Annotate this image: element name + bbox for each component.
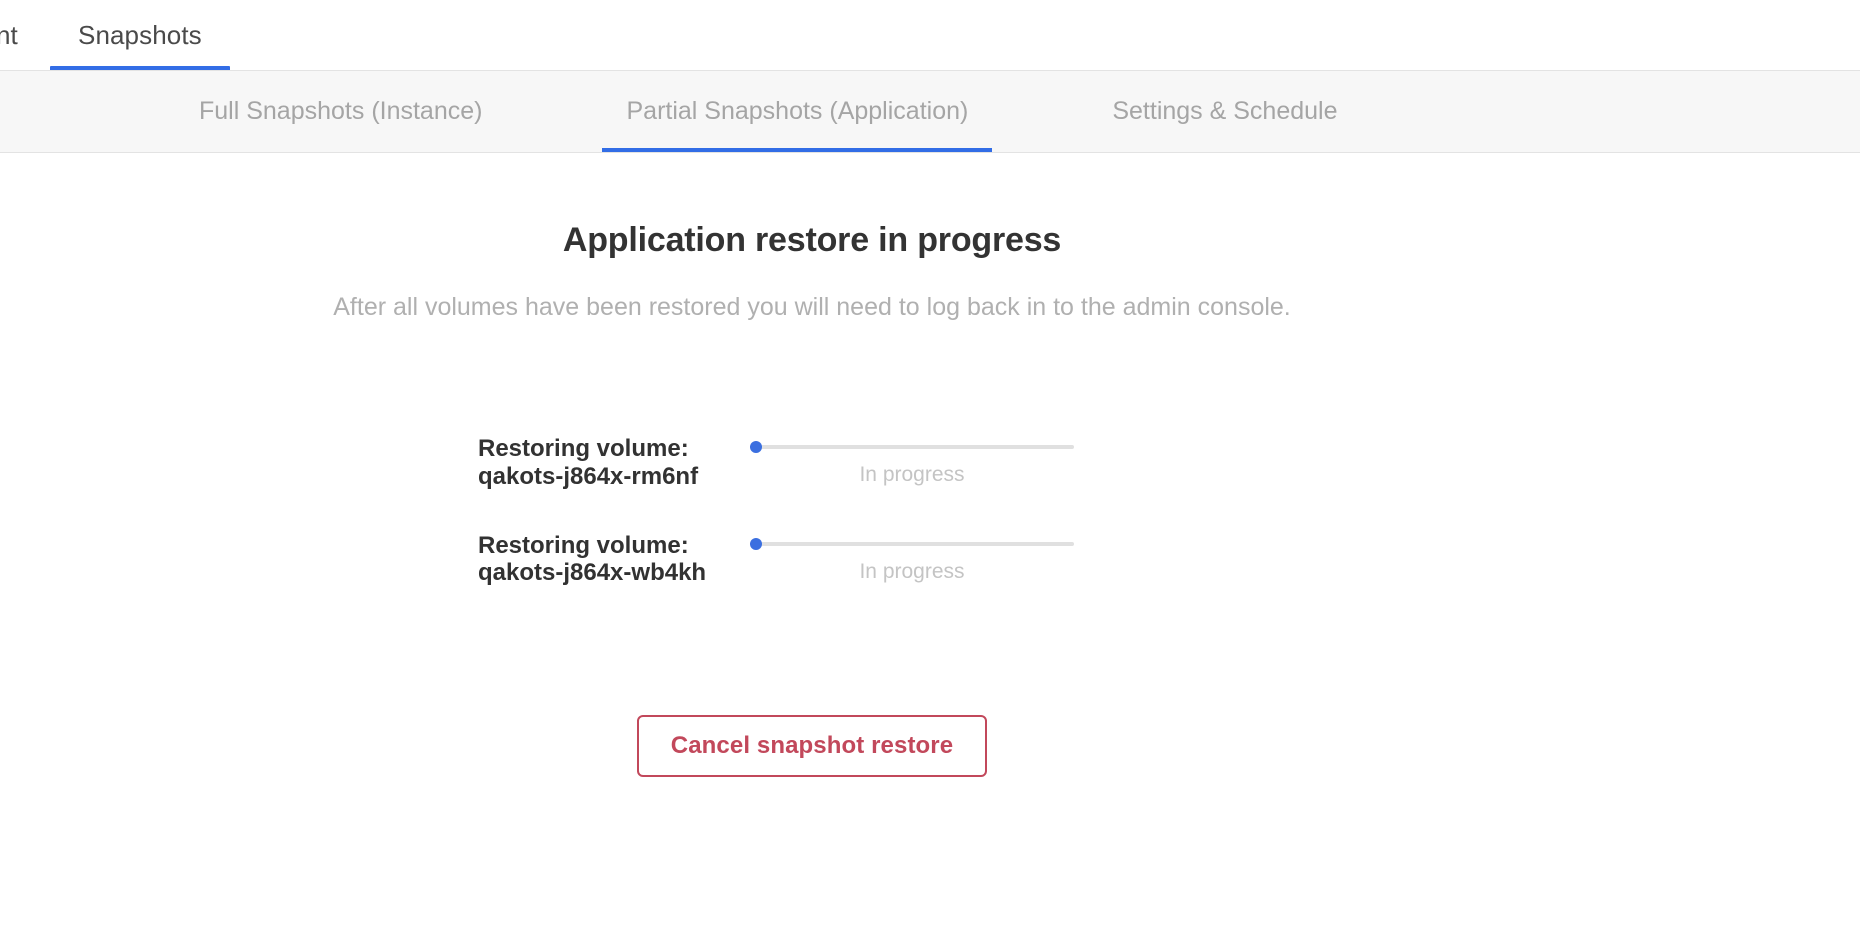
primary-tab-truncated[interactable]: nt xyxy=(0,0,24,71)
page-title: Application restore in progress xyxy=(0,221,1624,260)
volume-restore-row: Restoring volume: qakots-j864x-wb4kh In … xyxy=(478,530,1178,588)
sub-tab-spacer-b xyxy=(992,111,1088,112)
primary-tab-truncated-label: nt xyxy=(0,20,18,51)
volume-restore-progress: In progress xyxy=(750,530,1074,584)
sub-tab-bar: Full Snapshots (Instance) Partial Snapsh… xyxy=(0,71,1860,153)
progress-track xyxy=(750,542,1074,546)
cancel-snapshot-restore-button[interactable]: Cancel snapshot restore xyxy=(637,715,987,777)
sub-tab-full-snapshots[interactable]: Full Snapshots (Instance) xyxy=(175,71,506,153)
progress-status-text: In progress xyxy=(750,560,1074,584)
sub-tab-spacer-a xyxy=(506,111,602,112)
progress-indicator-dot xyxy=(750,441,762,453)
sub-tab-settings-schedule-label: Settings & Schedule xyxy=(1112,97,1337,126)
page-subtitle: After all volumes have been restored you… xyxy=(0,293,1624,322)
volume-restore-progress: In progress xyxy=(750,433,1074,487)
volume-restore-label: Restoring volume: qakots-j864x-rm6nf xyxy=(478,433,750,491)
primary-tab-bar: nt Snapshots xyxy=(0,0,1860,71)
sub-tab-settings-schedule[interactable]: Settings & Schedule xyxy=(1088,71,1361,153)
snapshots-restore-screen: nt Snapshots Full Snapshots (Instance) P… xyxy=(0,0,1860,952)
primary-tab-snapshots[interactable]: Snapshots xyxy=(50,0,230,71)
volume-restore-row: Restoring volume: qakots-j864x-rm6nf In … xyxy=(478,433,1178,491)
primary-tab-snapshots-label: Snapshots xyxy=(78,20,202,51)
progress-status-text: In progress xyxy=(750,463,1074,487)
action-row: Cancel snapshot restore xyxy=(0,715,1624,777)
sub-tab-partial-snapshots[interactable]: Partial Snapshots (Application) xyxy=(602,71,992,153)
sub-tab-full-snapshots-label: Full Snapshots (Instance) xyxy=(199,97,482,126)
sub-tab-active-indicator xyxy=(602,148,992,153)
main-content: Application restore in progress After al… xyxy=(0,153,1860,952)
progress-track xyxy=(750,445,1074,449)
progress-indicator-dot xyxy=(750,538,762,550)
volume-restore-label: Restoring volume: qakots-j864x-wb4kh xyxy=(478,530,750,588)
volume-restore-list: Restoring volume: qakots-j864x-rm6nf In … xyxy=(478,433,1178,626)
sub-tab-partial-snapshots-label: Partial Snapshots (Application) xyxy=(626,97,968,126)
